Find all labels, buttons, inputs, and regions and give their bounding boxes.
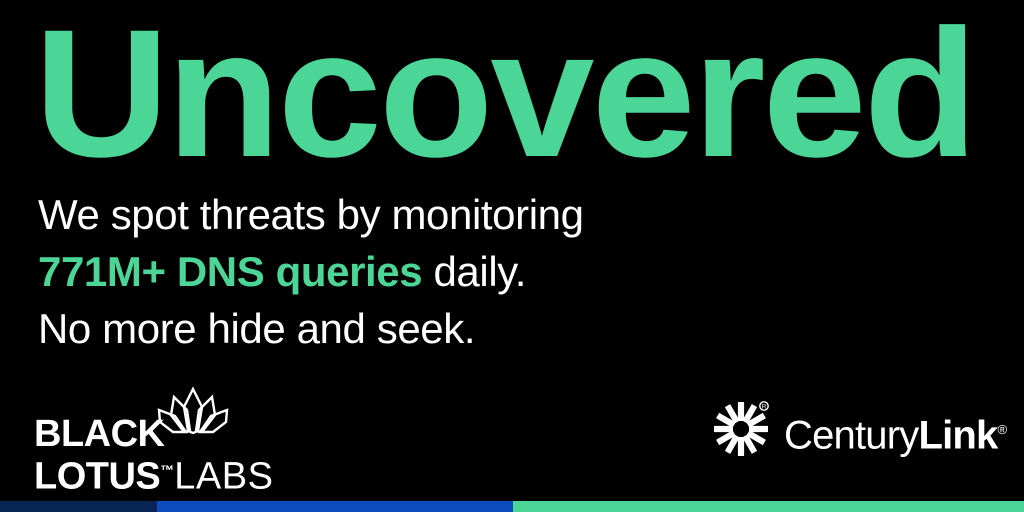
color-bar-segment-green bbox=[513, 501, 1024, 512]
wordmark-lotus-labs: LOTUS™LABS bbox=[34, 452, 273, 488]
stat-highlight: 771M+ DNS queries bbox=[38, 248, 422, 295]
trademark-symbol: ™ bbox=[160, 462, 174, 478]
registered-symbol: ® bbox=[998, 422, 1007, 437]
svg-text:R: R bbox=[762, 404, 767, 411]
subcopy-line-3: No more hide and seek. bbox=[38, 300, 918, 357]
subcopy-line-2: 771M+ DNS queries daily. bbox=[38, 243, 918, 300]
page-title: Uncovered bbox=[34, 8, 1023, 178]
centurylink-logo: R CenturyLink® bbox=[712, 400, 990, 460]
subcopy-line-1: We spot threats by monitoring bbox=[38, 186, 918, 243]
centurylink-wordmark: CenturyLink® bbox=[784, 408, 1006, 457]
subcopy-line-2-rest: daily. bbox=[422, 248, 526, 295]
promo-banner: Uncovered We spot threats by monitoring … bbox=[0, 0, 1024, 512]
black-lotus-labs-wordmark: BLACK LOTUS™LABS bbox=[34, 416, 273, 488]
brand-color-bar bbox=[0, 501, 1024, 512]
wordmark-labs: LABS bbox=[174, 456, 273, 498]
black-lotus-labs-logo: BLACK LOTUS™LABS bbox=[34, 386, 284, 478]
subcopy-block: We spot threats by monitoring 771M+ DNS … bbox=[38, 186, 918, 357]
wordmark-lotus: LOTUS bbox=[34, 456, 160, 498]
sunburst-icon: R bbox=[712, 400, 770, 458]
wordmark-black: BLACK bbox=[34, 416, 273, 452]
color-bar-segment-navy bbox=[0, 501, 157, 512]
color-bar-segment-blue bbox=[157, 501, 513, 512]
wordmark-century: Century bbox=[784, 413, 918, 457]
wordmark-link: Link bbox=[918, 413, 997, 457]
